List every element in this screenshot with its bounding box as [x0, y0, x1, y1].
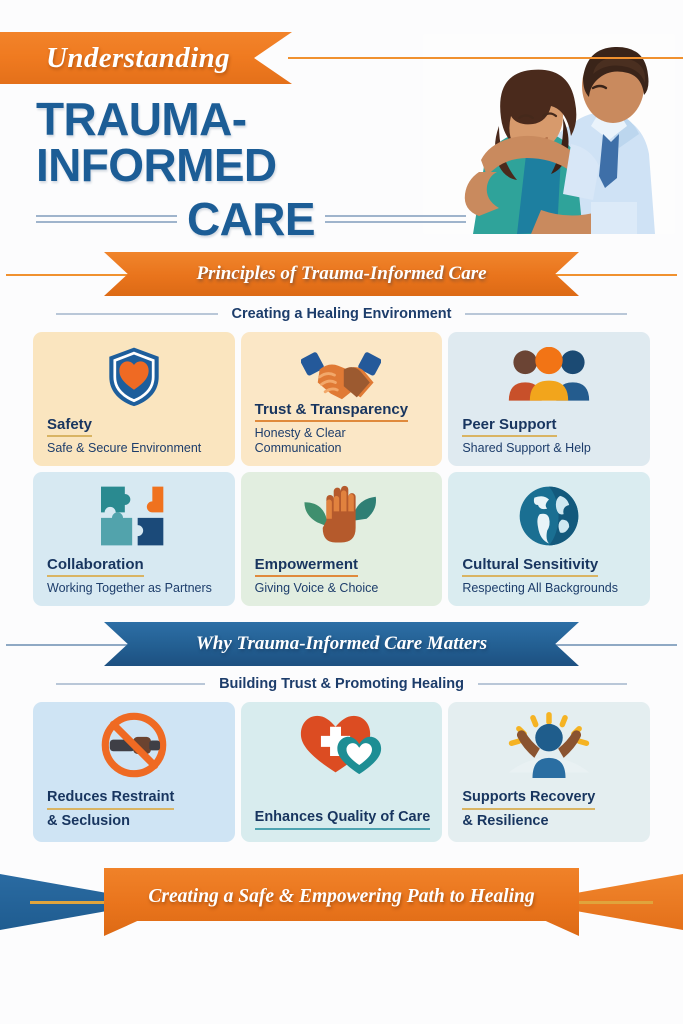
- subtitle-rule-left: [56, 313, 218, 315]
- card-title: Collaboration: [47, 556, 144, 577]
- card-text: Peer Support Shared Support & Help: [462, 416, 640, 456]
- principles-subtitle-row: Creating a Healing Environment: [56, 306, 627, 322]
- principle-card-empowerment[interactable]: Empowerment Giving Voice & Choice: [241, 472, 443, 606]
- double-heart-cross-icon: [241, 708, 443, 782]
- benefits-banner-wrap: Why Trauma-Informed Care Matters: [0, 622, 683, 668]
- title-line-2: CARE: [187, 196, 315, 242]
- card-subtitle: Safe & Secure Environment: [47, 441, 225, 456]
- card-text: Reduces Restraint & Seclusion: [47, 788, 225, 830]
- hero-section: Understanding TRAUMA-INFORMED CARE: [0, 0, 683, 248]
- card-title: Peer Support: [462, 416, 556, 437]
- title-line-1: TRAUMA-INFORMED: [36, 96, 466, 188]
- principle-card-collaboration[interactable]: Collaboration Working Together as Partne…: [33, 472, 235, 606]
- footer-ribbon: Creating a Safe & Empowering Path to Hea…: [104, 868, 579, 936]
- principles-card-grid: Safety Safe & Secure Environment Trust &…: [33, 332, 650, 606]
- card-title: Enhances Quality of Care: [255, 809, 431, 830]
- principle-card-safety[interactable]: Safety Safe & Secure Environment: [33, 332, 235, 466]
- globe-icon: [448, 480, 650, 552]
- benefits-banner-text: Why Trauma-Informed Care Matters: [196, 633, 487, 655]
- subtitle-rule-right: [478, 683, 627, 685]
- card-subtitle: Honesty & Clear Communication: [255, 426, 433, 456]
- benefits-subtitle: Building Trust & Promoting Healing: [219, 676, 464, 692]
- card-subtitle: Respecting All Backgrounds: [462, 581, 640, 596]
- footer-ribbon-text: Creating a Safe & Empowering Path to Hea…: [148, 886, 534, 908]
- puzzle-pieces-icon: [33, 480, 235, 552]
- card-title: Safety: [47, 416, 92, 437]
- subtitle-rule-left: [56, 683, 205, 685]
- principles-banner: Principles of Trauma-Informed Care: [104, 252, 579, 296]
- card-text: Safety Safe & Secure Environment: [47, 416, 225, 456]
- card-text: Enhances Quality of Care: [255, 808, 433, 830]
- card-subtitle: Working Together as Partners: [47, 581, 225, 596]
- three-people-icon: [448, 340, 650, 412]
- card-text: Cultural Sensitivity Respecting All Back…: [462, 556, 640, 596]
- benefit-card-reduces-restraint[interactable]: Reduces Restraint & Seclusion: [33, 702, 235, 842]
- card-text: Trust & Transparency Honesty & Clear Com…: [255, 401, 433, 456]
- principle-card-cultural-sensitivity[interactable]: Cultural Sensitivity Respecting All Back…: [448, 472, 650, 606]
- shield-heart-icon: [33, 340, 235, 412]
- card-text: Supports Recovery & Resilience: [462, 788, 640, 830]
- subtitle-rule-right: [465, 313, 627, 315]
- card-title: Empowerment: [255, 556, 358, 577]
- principles-banner-text: Principles of Trauma-Informed Care: [196, 263, 486, 285]
- eyebrow-ribbon: Understanding: [0, 32, 292, 84]
- principles-banner-wrap: Principles of Trauma-Informed Care: [0, 252, 683, 298]
- benefits-banner: Why Trauma-Informed Care Matters: [104, 622, 579, 666]
- title-line-2-row: CARE: [36, 196, 466, 242]
- eyebrow-rule: [288, 57, 683, 59]
- page-title: TRAUMA-INFORMED CARE: [36, 96, 466, 242]
- benefits-card-grid: Reduces Restraint & Seclusion Enhances Q…: [33, 702, 650, 842]
- card-title: Supports Recovery: [462, 789, 595, 810]
- card-text: Empowerment Giving Voice & Choice: [255, 556, 433, 596]
- infographic-page: Understanding TRAUMA-INFORMED CARE Princ…: [0, 0, 683, 1024]
- principle-card-peer-support[interactable]: Peer Support Shared Support & Help: [448, 332, 650, 466]
- benefit-card-supports-recovery[interactable]: Supports Recovery & Resilience: [448, 702, 650, 842]
- card-subtitle: Shared Support & Help: [462, 441, 640, 456]
- principles-subtitle: Creating a Healing Environment: [232, 306, 452, 322]
- card-title: Trust & Transparency: [255, 401, 408, 422]
- benefits-subtitle-row: Building Trust & Promoting Healing: [56, 676, 627, 692]
- benefit-card-enhances-quality[interactable]: Enhances Quality of Care: [241, 702, 443, 842]
- principle-card-trust[interactable]: Trust & Transparency Honesty & Clear Com…: [241, 332, 443, 466]
- raised-hand-leaves-icon: [241, 480, 443, 552]
- person-arms-raised-sunburst-icon: [448, 708, 650, 782]
- card-title: Reduces Restraint: [47, 789, 174, 810]
- card-title-line2: & Resilience: [462, 812, 640, 830]
- card-subtitle: Giving Voice & Choice: [255, 581, 433, 596]
- footer-section: Creating a Safe & Empowering Path to Hea…: [0, 858, 683, 950]
- eyebrow-text: Understanding: [46, 42, 230, 75]
- title-rule-right: [325, 215, 466, 223]
- title-rule-left: [36, 215, 177, 223]
- card-title-line2: & Seclusion: [47, 812, 225, 830]
- no-restraint-prohibition-icon: [33, 708, 235, 782]
- card-text: Collaboration Working Together as Partne…: [47, 556, 225, 596]
- card-title: Cultural Sensitivity: [462, 556, 598, 577]
